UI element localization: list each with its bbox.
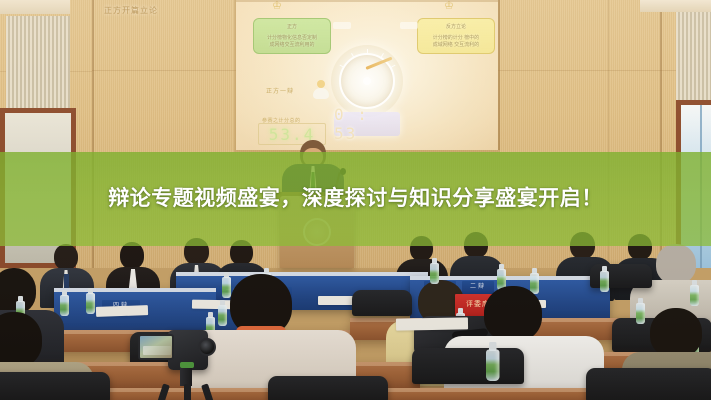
flip-out-lcd-screen xyxy=(138,334,174,360)
water-bottle xyxy=(430,258,439,284)
crown-icon: ♔ xyxy=(444,0,454,12)
office-chair xyxy=(412,348,524,384)
bottle-body xyxy=(430,263,439,284)
office-chair xyxy=(268,376,388,400)
water-bottle xyxy=(636,298,645,324)
affirmative-panel-line2: 成网络交互流利用的 xyxy=(254,42,330,50)
name-placard: 二辩 xyxy=(462,281,494,294)
paper-sheet xyxy=(396,317,468,330)
screen-affirmative-panel: 正方 计分榜物化信息否定制 成网络交互流利用的 xyxy=(253,18,331,54)
headline-banner: 辩论专题视频盛宴，深度探讨与知识分享盛宴开启！ xyxy=(0,152,711,246)
screen-side-label: 正方一辩 xyxy=(266,86,294,95)
bottle-body xyxy=(60,295,69,316)
bottle-body xyxy=(222,277,231,298)
speaker-figure-icon xyxy=(312,80,330,100)
person-head xyxy=(484,286,542,342)
screen-heading: 正方开篇立论 xyxy=(0,5,262,16)
office-chair xyxy=(586,368,711,400)
affirmative-panel-line1: 计分榜物化信息否定制 xyxy=(254,35,330,43)
person-head xyxy=(54,244,78,270)
person-head xyxy=(650,308,702,358)
screen-negative-panel: 反方立论 计分榜的计分 榜中的 成域网络 交互流利的 xyxy=(417,18,495,54)
camera-lens-icon xyxy=(198,338,216,356)
bottle-body xyxy=(600,271,609,292)
vertical-blinds-icon xyxy=(676,12,711,112)
tripod-leg xyxy=(184,384,191,400)
water-bottle xyxy=(60,290,69,316)
water-bottle xyxy=(530,268,539,294)
bottle-body xyxy=(218,305,227,326)
bottle-body xyxy=(636,303,645,324)
water-bottle xyxy=(486,342,500,381)
affirmative-panel-title: 正方 xyxy=(254,24,330,32)
bottle-body xyxy=(486,350,500,382)
figure-body xyxy=(313,88,329,99)
screen-tag xyxy=(400,22,418,29)
gauge-tick xyxy=(367,49,368,54)
debate-countdown-timer: 0 : 53 xyxy=(334,112,400,136)
gauge-tick xyxy=(391,65,396,68)
figure-head xyxy=(317,80,325,88)
gauge-hub xyxy=(363,77,371,85)
screenshot-root: 正方开篇立论 ♔ ♔ 正方 计分榜物化信息否定制 成网络交互流利用的 反方立论 … xyxy=(0,0,711,400)
water-bottle xyxy=(690,280,699,306)
water-bottle xyxy=(600,266,609,292)
bottle-body xyxy=(86,293,95,314)
vertical-blinds-icon xyxy=(6,16,70,112)
bottle-body xyxy=(690,285,699,306)
crown-icon: ♔ xyxy=(272,0,282,12)
person-head xyxy=(120,242,144,269)
page-title: 辩论专题视频盛宴，深度探讨与知识分享盛宴开启！ xyxy=(46,184,665,214)
negative-panel-title: 反方立论 xyxy=(418,24,494,32)
water-bottle xyxy=(86,288,95,314)
person-head xyxy=(656,244,696,284)
office-chair xyxy=(352,290,412,316)
office-chair xyxy=(0,372,110,400)
water-bottle xyxy=(222,272,231,298)
ceiling-soffit xyxy=(640,0,711,12)
wall-seam xyxy=(498,0,500,150)
water-bottle xyxy=(218,300,227,326)
screen-tag xyxy=(333,22,351,29)
negative-panel-line2: 成域网络 交互流利的 xyxy=(418,42,494,50)
negative-panel-line1: 计分榜的计分 榜中的 xyxy=(418,35,494,43)
paper-sheet xyxy=(96,305,148,317)
